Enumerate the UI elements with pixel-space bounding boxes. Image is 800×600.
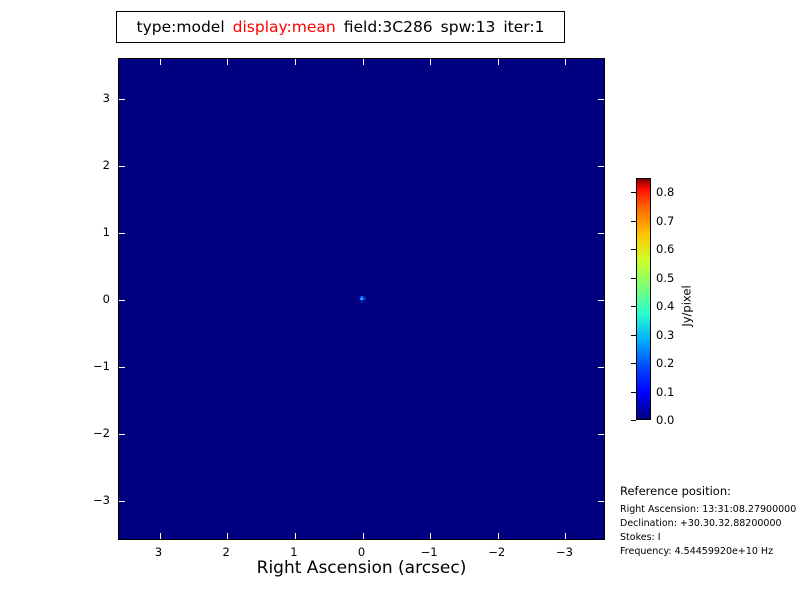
reference-position-lines: Right Ascension: 13:31:08.27900000Declin…	[620, 503, 800, 559]
colorbar-tick-label: 0.5	[656, 271, 674, 285]
x-tick-label: 2	[223, 545, 230, 559]
y-tick-mark	[598, 99, 604, 100]
x-tick-label: 3	[155, 545, 162, 559]
x-tick-mark	[160, 533, 161, 539]
colorbar-tick-label: 0.8	[656, 185, 674, 199]
reference-position-line: Stokes: I	[620, 531, 800, 545]
reference-position-line: Frequency: 4.54459920e+10 Hz	[620, 545, 800, 559]
y-tick-label: −3	[88, 493, 110, 507]
image-info-title-box: type:model display:mean field:3C286 spw:…	[116, 11, 565, 43]
y-tick-mark	[119, 434, 125, 435]
colorbar-tick-mark	[631, 306, 636, 307]
reference-position-heading: Reference position:	[620, 484, 800, 498]
colorbar-tick-mark	[631, 249, 636, 250]
title-segment-display: display:mean	[229, 18, 340, 36]
y-tick-mark	[598, 434, 604, 435]
colorbar-tick-label: 0.7	[656, 214, 674, 228]
colorbar-tick-mark	[631, 192, 636, 193]
x-tick-mark	[430, 59, 431, 65]
colorbar-tick-mark	[631, 392, 636, 393]
colorbar-tick-label: 0.2	[656, 356, 674, 370]
y-tick-label: 2	[88, 158, 110, 172]
x-tick-mark	[430, 533, 431, 539]
x-tick-mark	[565, 533, 566, 539]
x-tick-label: −3	[556, 545, 573, 559]
colorbar-tick-label: 0.6	[656, 242, 674, 256]
y-tick-mark	[119, 501, 125, 502]
y-tick-label: 3	[88, 91, 110, 105]
colorbar-tick-label: 0.4	[656, 299, 674, 313]
colorbar-tick-mark	[631, 221, 636, 222]
x-tick-label: −2	[488, 545, 505, 559]
y-tick-mark	[598, 367, 604, 368]
title-segment-type: type:model	[133, 18, 229, 36]
colorbar-tick-label: 0.3	[656, 328, 674, 342]
x-tick-mark	[363, 59, 364, 65]
colorbar-tick-label: 0.0	[656, 413, 674, 427]
colorbar-unit-label: Jy/pixel	[680, 285, 694, 326]
x-tick-mark	[227, 533, 228, 539]
colorbar-gradient	[636, 178, 651, 420]
y-tick-label: −2	[88, 426, 110, 440]
y-tick-mark	[119, 300, 125, 301]
title-segment-spw: spw:13	[437, 18, 500, 36]
colorbar[interactable]: 0.80.70.60.50.40.30.20.10.0	[636, 178, 651, 420]
y-tick-mark	[598, 501, 604, 502]
sky-image-plot[interactable]	[118, 58, 605, 540]
colorbar-tick-mark	[631, 335, 636, 336]
y-tick-label: −1	[88, 359, 110, 373]
x-tick-mark	[565, 59, 566, 65]
y-tick-mark	[598, 166, 604, 167]
reference-position-line: Right Ascension: 13:31:08.27900000	[620, 503, 800, 517]
y-tick-mark	[119, 99, 125, 100]
title-segment-field: field:3C286	[340, 18, 437, 36]
reference-position-block: Reference position: Right Ascension: 13:…	[620, 484, 800, 559]
image-canvas	[119, 59, 604, 539]
colorbar-tick-mark	[631, 420, 636, 421]
x-tick-label: 0	[358, 545, 365, 559]
y-tick-label: 0	[88, 292, 110, 306]
colorbar-tick-mark	[631, 363, 636, 364]
y-tick-mark	[598, 233, 604, 234]
x-tick-mark	[295, 533, 296, 539]
x-tick-mark	[363, 533, 364, 539]
reference-position-line: Declination: +30.30.32.88200000	[620, 517, 800, 531]
colorbar-tick-mark	[631, 278, 636, 279]
y-tick-mark	[119, 367, 125, 368]
x-tick-mark	[295, 59, 296, 65]
x-tick-mark	[227, 59, 228, 65]
x-tick-label: −1	[421, 545, 438, 559]
x-axis-label: Right Ascension (arcsec)	[118, 558, 605, 578]
y-tick-label: 1	[88, 225, 110, 239]
y-tick-mark	[598, 300, 604, 301]
x-tick-mark	[498, 533, 499, 539]
y-tick-mark	[119, 233, 125, 234]
y-tick-mark	[119, 166, 125, 167]
x-tick-mark	[498, 59, 499, 65]
point-source-marker	[358, 296, 365, 302]
title-segment-iter: iter:1	[499, 18, 548, 36]
colorbar-tick-label: 0.1	[656, 385, 674, 399]
x-tick-mark	[160, 59, 161, 65]
x-tick-label: 1	[290, 545, 297, 559]
